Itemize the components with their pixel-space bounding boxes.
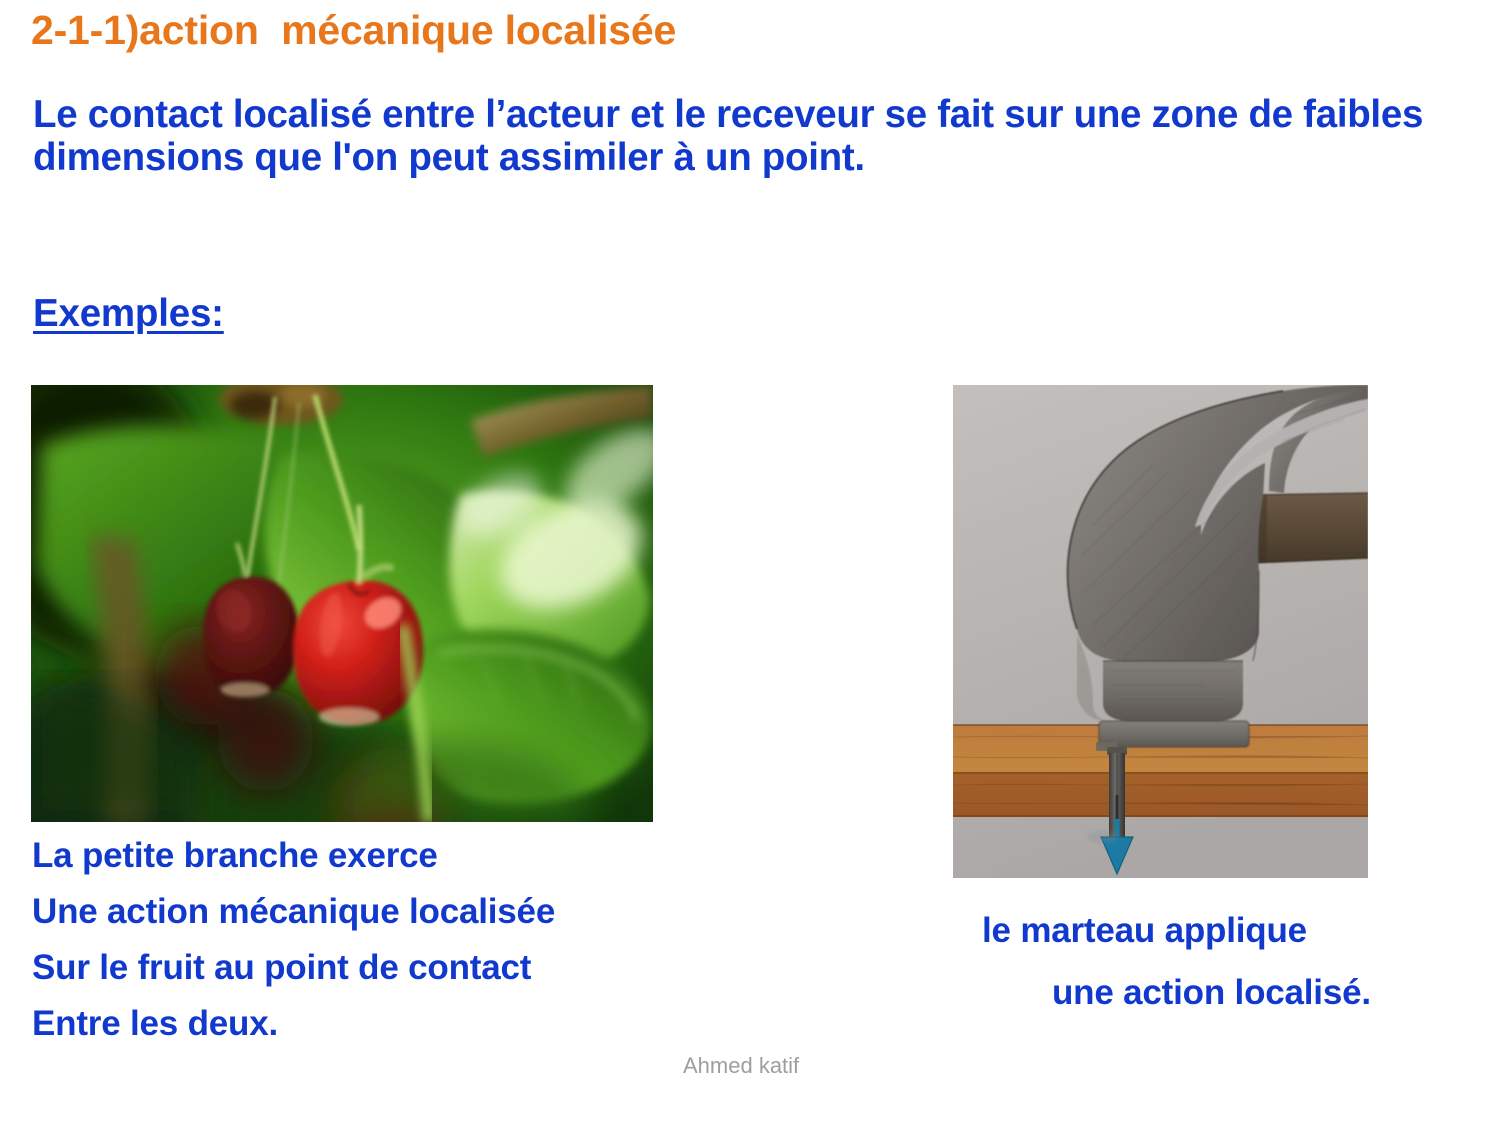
cherry-photo [31, 385, 653, 822]
left-example-caption: La petite branche exerce Une action méca… [32, 828, 812, 1052]
examples-heading: Exemples: [33, 292, 224, 336]
right-caption-line-1: le marteau applique [960, 900, 1500, 962]
left-caption-line-1: La petite branche exerce [32, 828, 812, 884]
right-example-caption: le marteau applique une action localisé. [960, 900, 1500, 1024]
hammer-diagram [953, 385, 1368, 878]
right-caption-line-2: une action localisé. [960, 962, 1500, 1024]
slide-canvas: 2-1-1)action mécanique localisée Le cont… [0, 0, 1500, 1125]
left-caption-line-2: Une action mécanique localisée [32, 884, 812, 940]
author-footer: Ahmed katif [683, 1053, 799, 1079]
left-caption-line-3: Sur le fruit au point de contact [32, 940, 812, 996]
page-title: 2-1-1)action mécanique localisée [31, 8, 1471, 54]
left-caption-line-4: Entre les deux. [32, 996, 812, 1052]
definition-paragraph: Le contact localisé entre l’acteur et le… [33, 93, 1480, 179]
